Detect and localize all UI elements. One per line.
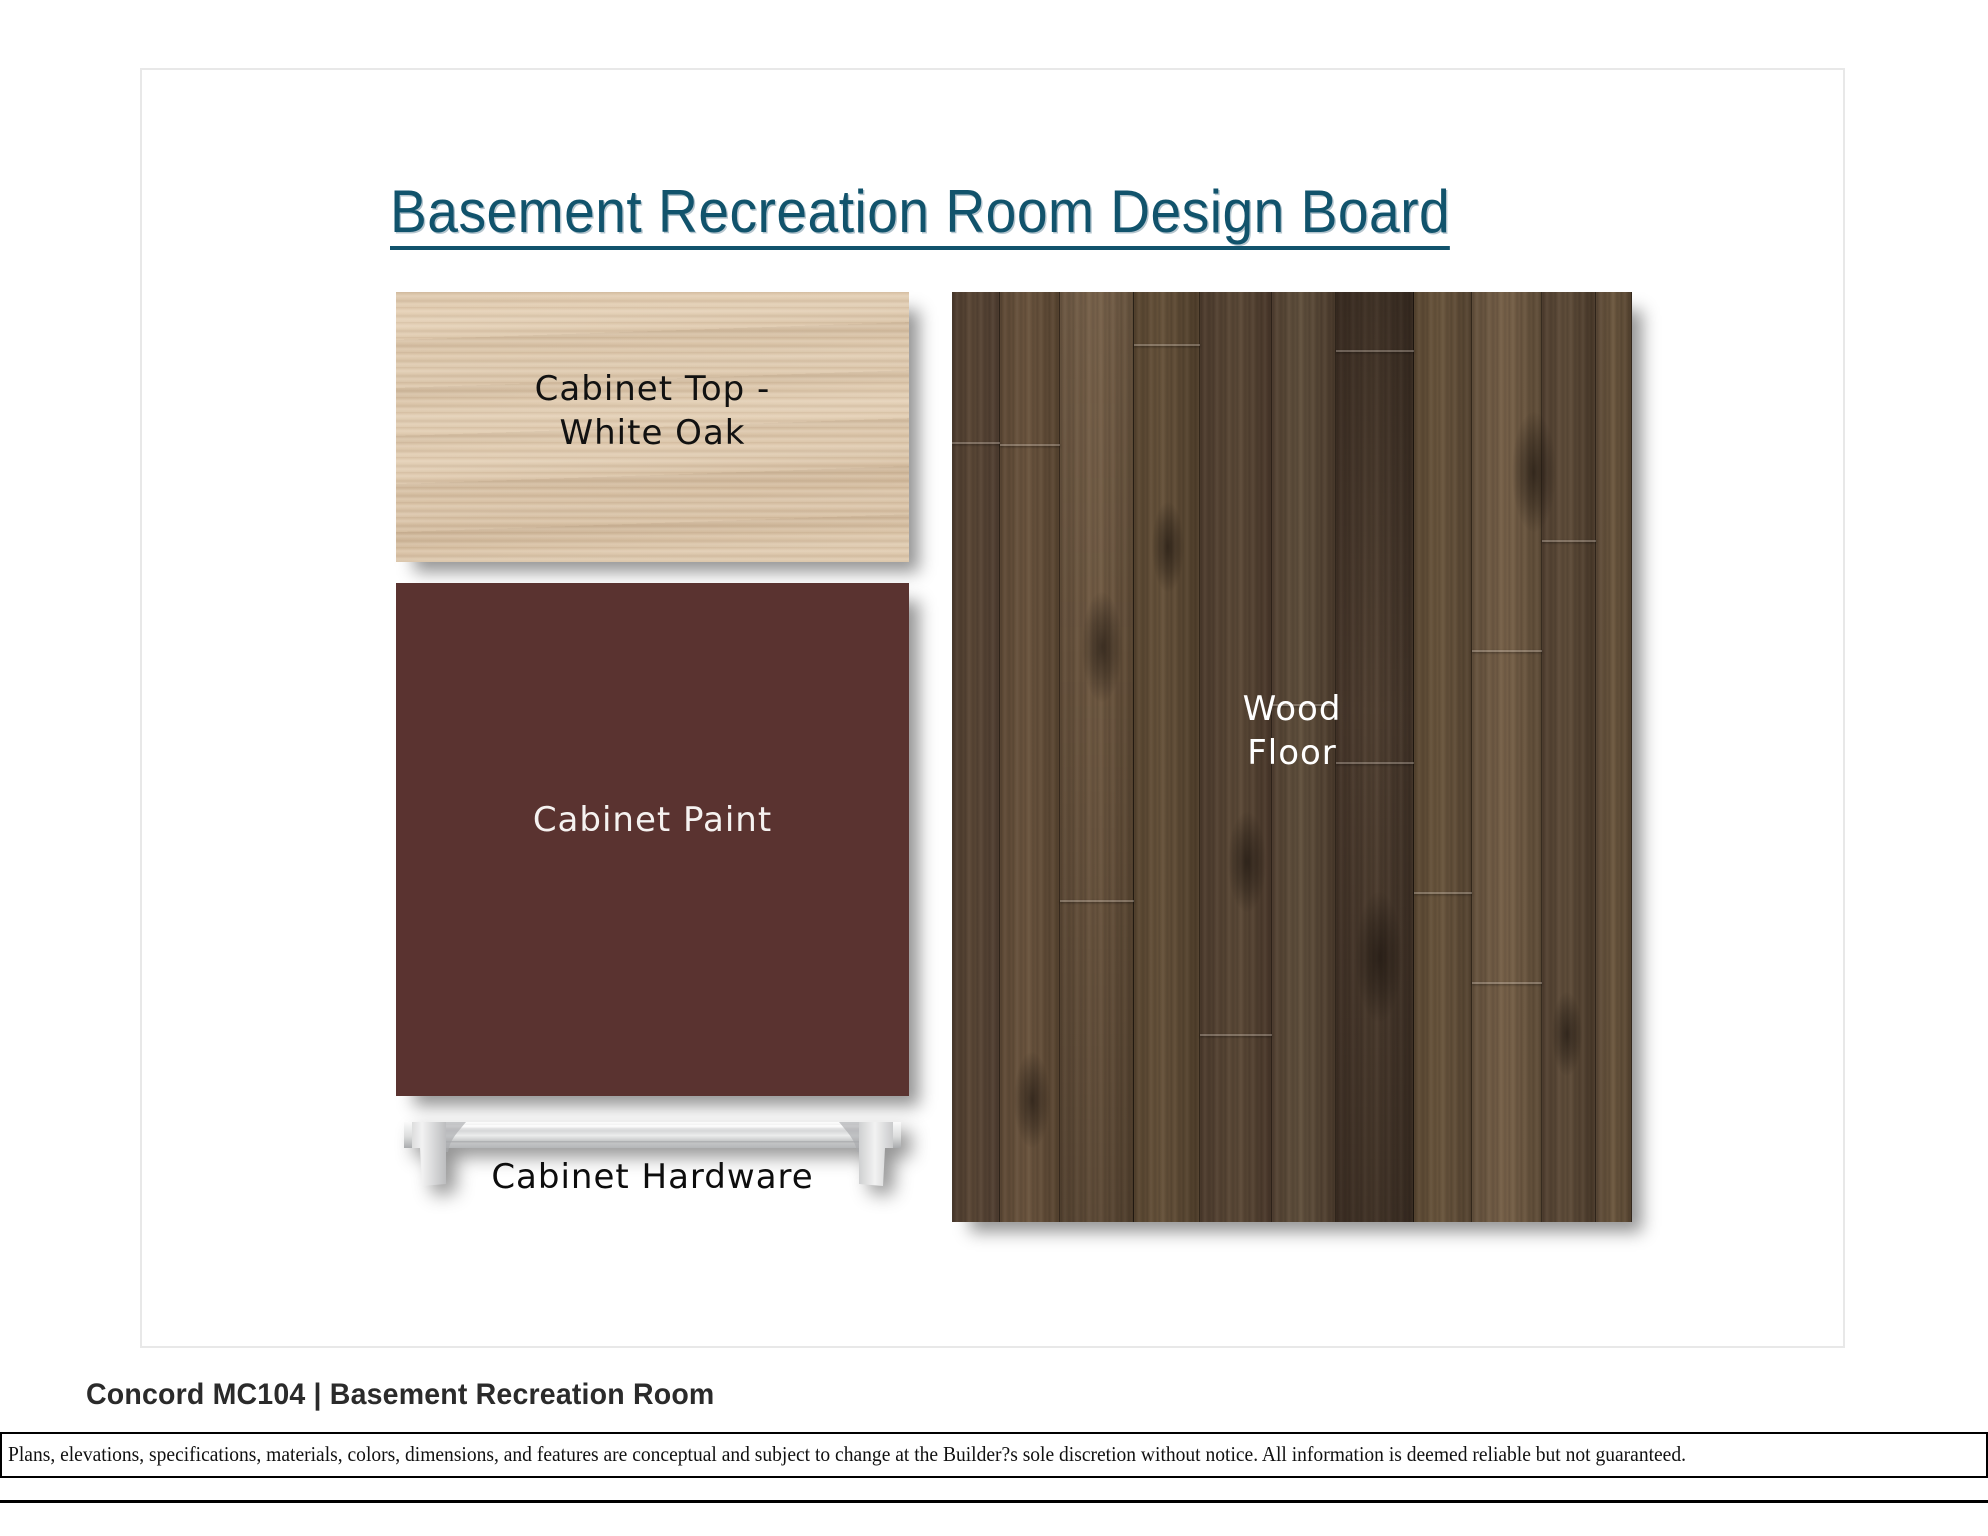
- swatch-cabinet-hardware-label: Cabinet Hardware: [396, 1157, 909, 1197]
- bottom-rule: [0, 1500, 1988, 1503]
- disclaimer-box: Plans, elevations, specifications, mater…: [0, 1432, 1988, 1478]
- project-footer-title: Concord MC104 | Basement Recreation Room: [86, 1378, 714, 1412]
- swatch-cabinet-paint-label: Cabinet Paint: [396, 799, 909, 843]
- swatch-cabinet-top[interactable]: Cabinet Top - White Oak: [396, 292, 909, 562]
- swatch-cabinet-hardware[interactable]: Cabinet Hardware: [396, 1112, 909, 1214]
- swatch-cabinet-top-label: Cabinet Top - White Oak: [396, 368, 909, 455]
- swatch-cabinet-top-label-line2: White Oak: [396, 412, 909, 456]
- swatch-cabinet-paint[interactable]: Cabinet Paint: [396, 583, 909, 1096]
- disclaimer-text: Plans, elevations, specifications, mater…: [8, 1442, 1686, 1467]
- page-title: Basement Recreation Room Design Board: [390, 182, 1450, 250]
- swatch-wood-floor[interactable]: Wood Floor: [952, 292, 1632, 1222]
- wood-plank-texture: [952, 292, 1632, 1222]
- swatch-cabinet-top-label-line1: Cabinet Top -: [396, 368, 909, 412]
